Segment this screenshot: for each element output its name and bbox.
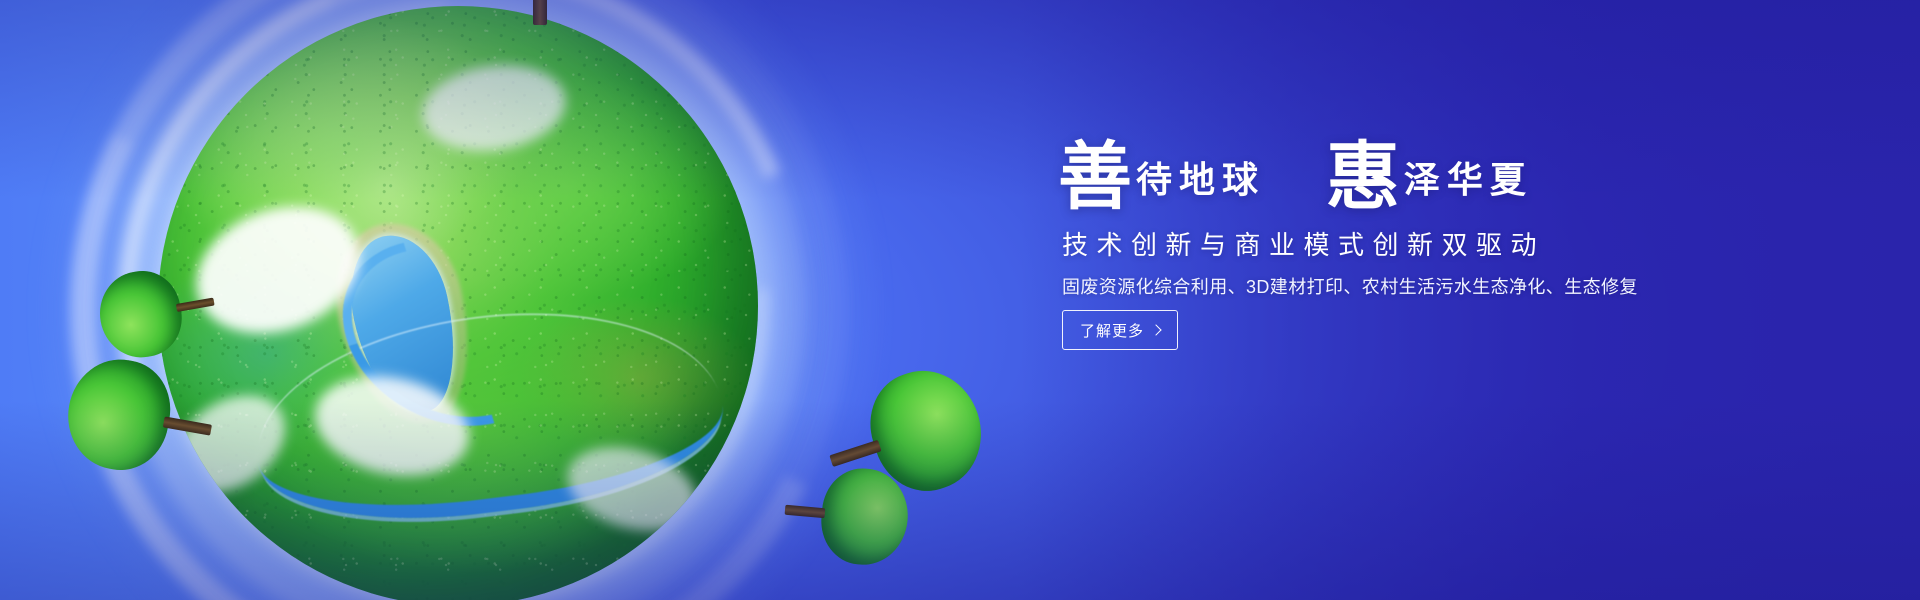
learn-more-label: 了解更多 — [1080, 320, 1144, 341]
little-planet-illustration — [40, 0, 880, 600]
headline-char-hui: 惠 — [1326, 134, 1400, 220]
tree-trunk — [533, 0, 547, 25]
chevron-right-icon — [1150, 324, 1161, 335]
hero-subtitle: 技术创新与商业模式创新双驱动 — [1062, 228, 1545, 262]
tree-trunk — [163, 417, 212, 436]
tree-canopy — [817, 465, 911, 568]
hero-banner: 善待地球 惠泽华夏 技术创新与商业模式创新双驱动 固废资源化综合利用、3D建材打… — [0, 0, 1920, 600]
hero-content: 善待地球 惠泽华夏 技术创新与商业模式创新双驱动 固废资源化综合利用、3D建材打… — [1058, 0, 1818, 600]
headline-text-zehuaxia: 泽华夏 — [1404, 159, 1533, 201]
headline-phrase-1: 善待地球 — [1058, 140, 1265, 214]
learn-more-button[interactable]: 了解更多 — [1062, 310, 1178, 350]
hero-description: 固废资源化综合利用、3D建材打印、农村生活污水生态净化、生态修复 — [1062, 272, 1638, 302]
headline-phrase-2: 惠泽华夏 — [1326, 140, 1533, 214]
headline-text-daidiqiu: 待地球 — [1136, 159, 1265, 201]
tree-canopy — [93, 265, 187, 364]
tree-trunk — [784, 505, 825, 518]
tree-trunk — [829, 440, 881, 467]
tree-right-2 — [784, 462, 912, 568]
headline-char-shan: 善 — [1058, 134, 1132, 220]
tree-trunk — [176, 297, 215, 312]
green-globe — [158, 6, 758, 600]
page-title: 善待地球 惠泽华夏 — [1058, 140, 1818, 228]
tree-canopy — [60, 352, 178, 478]
